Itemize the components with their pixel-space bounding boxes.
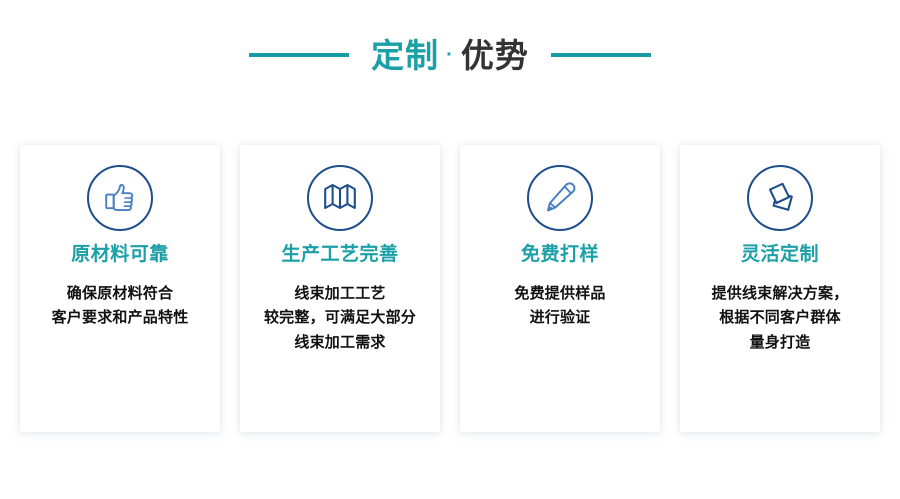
thumbs-up-icon (103, 181, 137, 215)
advantage-card-title: 灵活定制 (741, 245, 819, 264)
page-title-separator: · (439, 45, 461, 65)
advantage-card[interactable]: 生产工艺完善 线束加工工艺 较完整，可满足大部分 线束加工需求 (240, 145, 440, 432)
icon-circle (747, 165, 813, 231)
page-title: 定制 · 优势 (371, 39, 529, 72)
icon-circle (527, 165, 593, 231)
icon-circle (87, 165, 153, 231)
section-heading: 定制 · 优势 (0, 30, 900, 80)
advantage-card-desc: 免费提供样品 进行验证 (506, 282, 613, 331)
advantage-card-list: 原材料可靠 确保原材料符合 客户要求和产品特性 生产工艺完善 线束加工工艺 较完… (20, 145, 880, 432)
folded-map-icon (323, 182, 357, 214)
advantage-card-desc: 线束加工工艺 较完整，可满足大部分 线束加工需求 (256, 282, 424, 355)
advantage-card-title: 生产工艺完善 (281, 245, 398, 264)
page-title-accent: 定制 (371, 39, 439, 72)
page-title-main: 优势 (461, 39, 529, 72)
heading-rule-left (249, 53, 349, 57)
pencil-icon (543, 181, 577, 215)
advantage-card[interactable]: 原材料可靠 确保原材料符合 客户要求和产品特性 (20, 145, 220, 432)
advantages-section: 定制 · 优势 原材料可靠 确保原材料符合 客户要求和产品特性 (0, 0, 900, 499)
advantage-card-title: 原材料可靠 (71, 245, 169, 264)
advantage-card-title: 免费打样 (521, 245, 599, 264)
icon-circle (307, 165, 373, 231)
advantage-card[interactable]: 免费打样 免费提供样品 进行验证 (460, 145, 660, 432)
advantage-card-desc: 提供线束解决方案， 根据不同客户群体 量身打造 (704, 282, 857, 355)
advantage-card-desc: 确保原材料符合 客户要求和产品特性 (44, 282, 197, 331)
heading-rule-right (551, 53, 651, 57)
advantage-card[interactable]: 灵活定制 提供线束解决方案， 根据不同客户群体 量身打造 (680, 145, 880, 432)
stacked-cards-icon (763, 181, 797, 215)
